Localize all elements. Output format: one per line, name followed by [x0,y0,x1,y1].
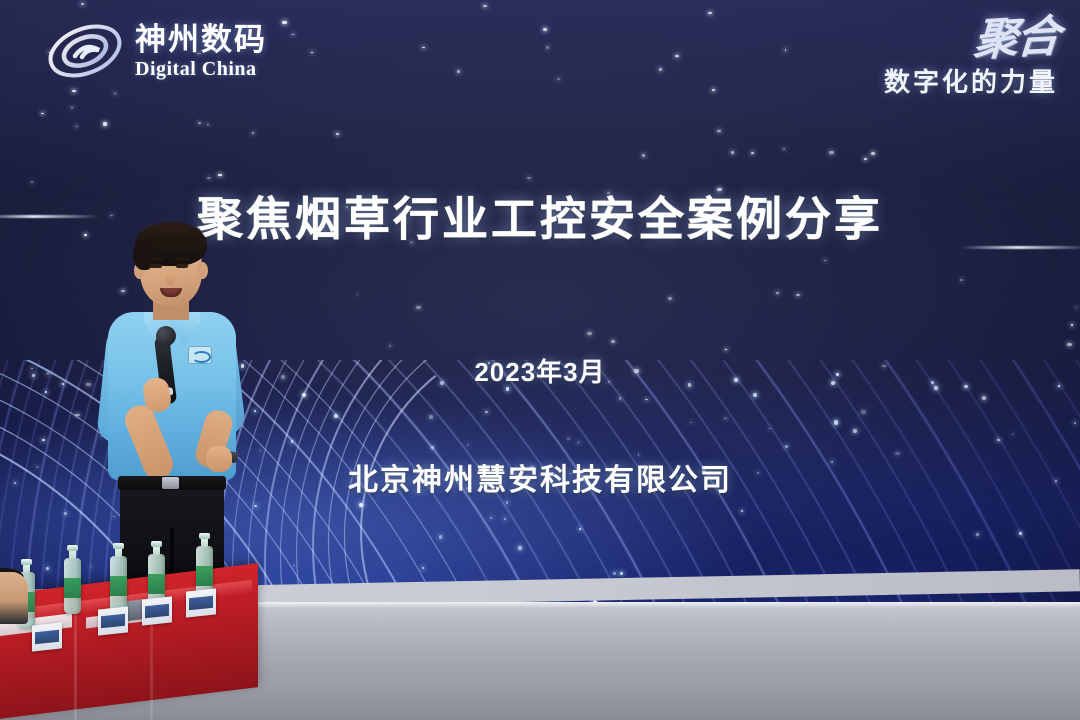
speaker-right-hand [206,446,232,472]
speaker-shirt-logo-icon [188,346,212,364]
speaker-eyebrow-right [175,258,189,261]
name-card-text [145,604,169,619]
name-card-text [101,614,125,629]
screenshot-root: 聚焦烟草行业工控安全案例分享 2023年3月 北京神州慧安科技有限公司 神州数码… [0,0,1080,720]
table-drape-fold [74,602,77,720]
event-calligraphy: 聚合 [972,16,1059,62]
bottle-label [148,574,165,594]
brand-name-cn: 神州数码 [135,24,267,55]
speaker-eyebrow-left [149,258,163,261]
brand-logo: 神州数码 Digital China [45,20,267,82]
front-row-table [0,580,260,720]
water-bottle [64,558,81,614]
speaker-belt-buckle [162,477,179,489]
digital-china-swirl-icon [45,20,125,82]
speaker-ear-right [197,262,208,279]
event-logo: 聚合 数字化的力量 [884,18,1058,99]
bottle-label [64,578,81,598]
bottle-label [110,576,127,596]
speaker-eye-left [150,264,162,268]
speaker-nose [166,272,175,285]
name-card [186,588,216,617]
speaker-eye-right [176,264,188,268]
attendee-silhouette [0,572,28,624]
water-bottle [110,556,127,612]
event-tagline: 数字化的力量 [884,62,1058,99]
brand-text: 神州数码 Digital China [135,24,267,79]
name-card-text [189,596,213,611]
name-card [142,596,172,625]
bottle-label [196,566,213,586]
name-card-text [35,630,59,645]
name-card [98,606,128,635]
name-card [32,622,62,651]
brand-name-en: Digital China [135,59,267,79]
